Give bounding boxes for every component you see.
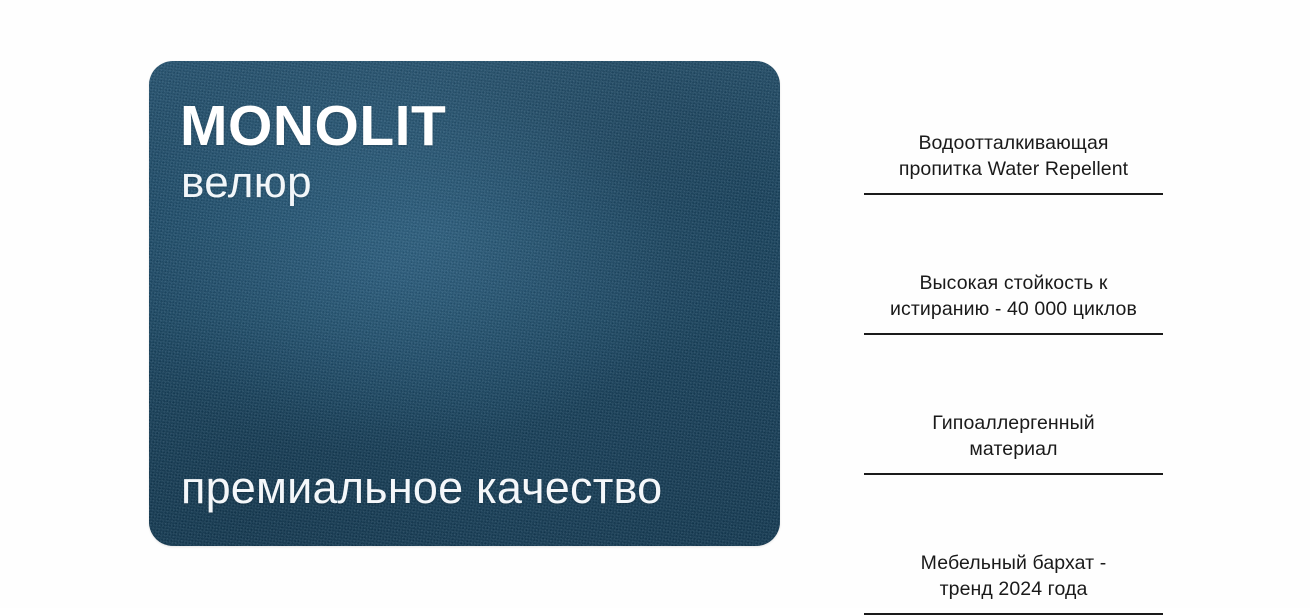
feature-line-1: Мебельный бархат - — [864, 550, 1163, 577]
feature-text: Водоотталкивающая пропитка Water Repelle… — [864, 130, 1163, 193]
brand-name: MONOLIT — [180, 98, 446, 155]
feature-divider — [864, 473, 1163, 475]
feature-divider — [864, 193, 1163, 195]
feature-item-trend-2024: Мебельный бархат - тренд 2024 года — [864, 475, 1163, 615]
feature-item-water-repellent: Водоотталкивающая пропитка Water Repelle… — [864, 55, 1163, 195]
feature-text: Гипоаллергенный материал — [864, 410, 1163, 473]
product-card: MONOLIT велюр премиальное качество Водоо… — [0, 0, 1310, 608]
feature-line-1: Водоотталкивающая — [864, 130, 1163, 157]
feature-line-2: пропитка Water Repellent — [864, 156, 1163, 183]
feature-line-2: истиранию - 40 000 циклов — [864, 296, 1163, 323]
feature-item-hypoallergenic: Гипоаллергенный материал — [864, 335, 1163, 475]
feature-line-2: материал — [864, 436, 1163, 463]
feature-divider — [864, 333, 1163, 335]
fabric-swatch[interactable]: MONOLIT велюр премиальное качество — [149, 61, 780, 546]
feature-text: Мебельный бархат - тренд 2024 года — [864, 550, 1163, 613]
feature-list: Водоотталкивающая пропитка Water Repelle… — [864, 55, 1163, 615]
feature-text: Высокая стойкость к истиранию - 40 000 ц… — [864, 270, 1163, 333]
feature-line-1: Гипоаллергенный — [864, 410, 1163, 437]
feature-item-abrasion-resistance: Высокая стойкость к истиранию - 40 000 ц… — [864, 195, 1163, 335]
material-type: велюр — [181, 161, 312, 205]
feature-line-1: Высокая стойкость к — [864, 270, 1163, 297]
swatch-text-layer: MONOLIT велюр премиальное качество — [149, 61, 780, 546]
feature-line-2: тренд 2024 года — [864, 576, 1163, 603]
tagline: премиальное качество — [181, 465, 662, 510]
